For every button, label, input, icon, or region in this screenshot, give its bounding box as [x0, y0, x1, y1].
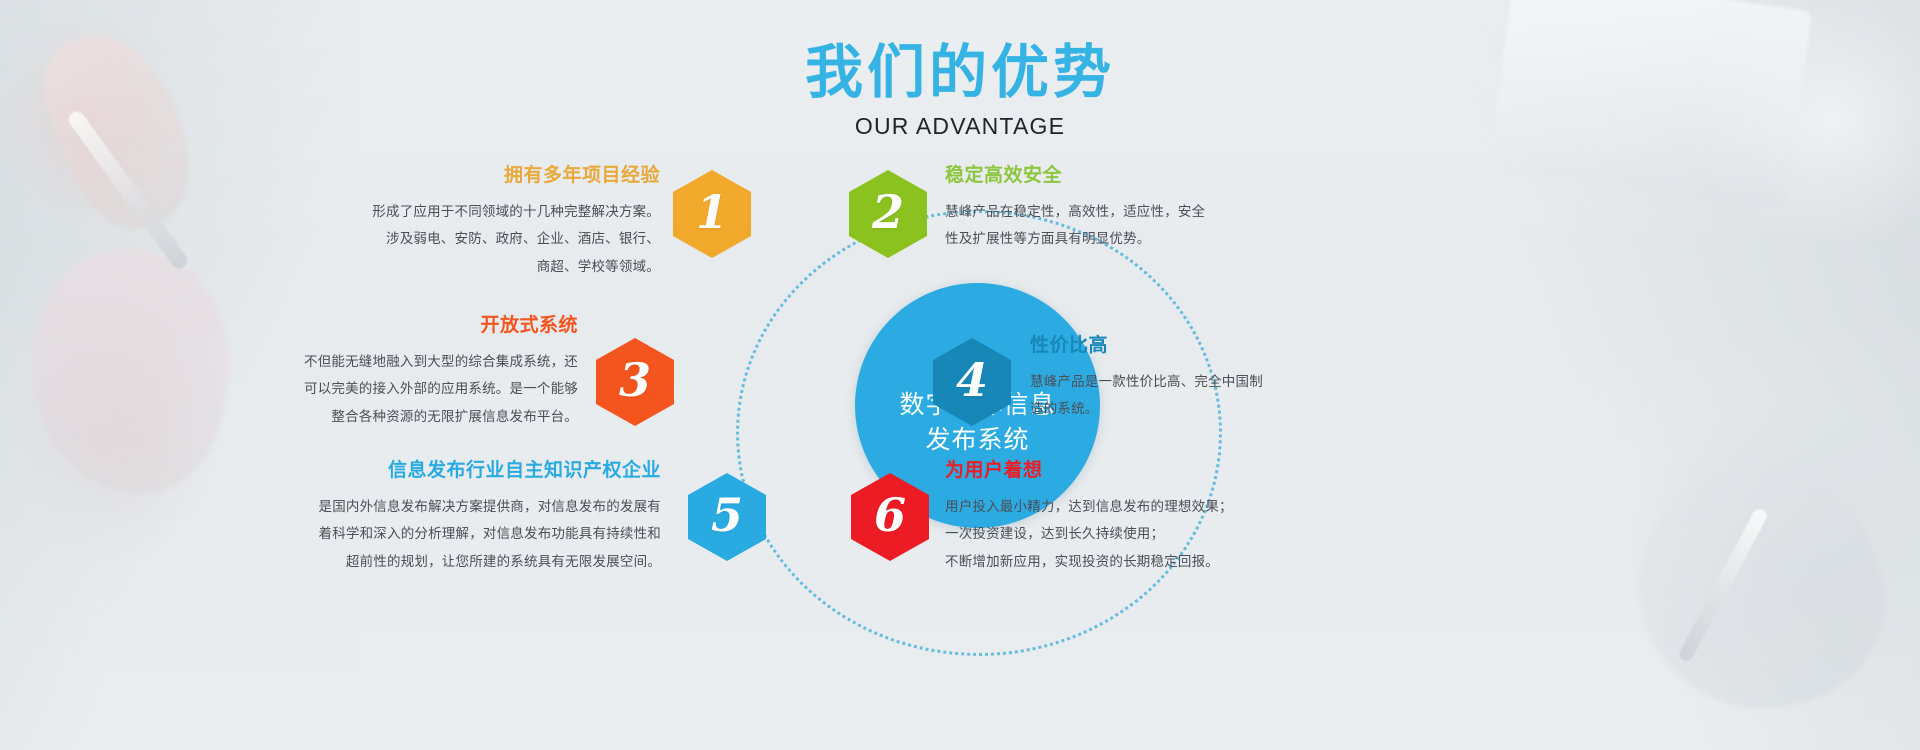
page-title-en: OUR ADVANTAGE — [0, 113, 1920, 140]
center-line-3: 发布系统 — [925, 423, 1029, 459]
feature-3-title: 开放式系统 — [230, 315, 578, 338]
hex-badge-3-number: 3 — [619, 353, 651, 407]
hex-badge-3[interactable]: 3 — [596, 338, 674, 426]
hex-badge-2-number: 2 — [872, 185, 904, 239]
feature-5-title: 信息发布行业自主知识产权企业 — [285, 460, 661, 483]
feature-1-title: 拥有多年项目经验 — [330, 165, 660, 188]
hex-badge-4-number: 4 — [956, 353, 988, 407]
feature-6-title: 为用户着想 — [945, 460, 1325, 483]
feature-block-6: 为用户着想 用户投入最小精力，达到信息发布的理想效果；一次投资建设，达到长久持续… — [945, 460, 1325, 575]
feature-block-2: 稳定高效安全 慧峰产品在稳定性，高效性，适应性，安全性及扩展性等方面具有明显优势… — [945, 165, 1305, 253]
feature-4-body: 慧峰产品是一款性价比高、完全中国制造的系统。 — [1030, 368, 1370, 423]
feature-2-body: 慧峰产品在稳定性，高效性，适应性，安全性及扩展性等方面具有明显优势。 — [945, 198, 1305, 253]
hex-badge-6-number: 6 — [874, 488, 906, 542]
hex-badge-1-number: 1 — [696, 185, 728, 239]
feature-2-title: 稳定高效安全 — [945, 165, 1305, 188]
feature-4-title: 性价比高 — [1030, 335, 1370, 358]
feature-1-body: 形成了应用于不同领域的十几种完整解决方案。涉及弱电、安防、政府、企业、酒店、银行… — [330, 198, 660, 280]
page-heading: 我们的优势 OUR ADVANTAGE — [0, 42, 1920, 140]
hex-badge-1[interactable]: 1 — [673, 170, 751, 258]
hex-badge-5-number: 5 — [711, 488, 743, 542]
feature-6-body: 用户投入最小精力，达到信息发布的理想效果；一次投资建设，达到长久持续使用；不断增… — [945, 493, 1325, 575]
feature-block-1: 拥有多年项目经验 形成了应用于不同领域的十几种完整解决方案。涉及弱电、安防、政府… — [330, 165, 660, 280]
advantage-banner: 我们的优势 OUR ADVANTAGE 慧峰 数字媒体信息 发布系统 1 2 3… — [0, 0, 1920, 750]
feature-block-4: 性价比高 慧峰产品是一款性价比高、完全中国制造的系统。 — [1030, 335, 1370, 423]
feature-3-body: 不但能无缝地融入到大型的综合集成系统，还可以完美的接入外部的应用系统。是一个能够… — [230, 348, 578, 430]
feature-block-5: 信息发布行业自主知识产权企业 是国内外信息发布解决方案提供商，对信息发布的发展有… — [285, 460, 661, 575]
feature-block-3: 开放式系统 不但能无缝地融入到大型的综合集成系统，还可以完美的接入外部的应用系统… — [230, 315, 578, 430]
page-title-cn: 我们的优势 — [0, 42, 1920, 103]
feature-5-body: 是国内外信息发布解决方案提供商，对信息发布的发展有着科学和深入的分析理解，对信息… — [285, 493, 661, 575]
